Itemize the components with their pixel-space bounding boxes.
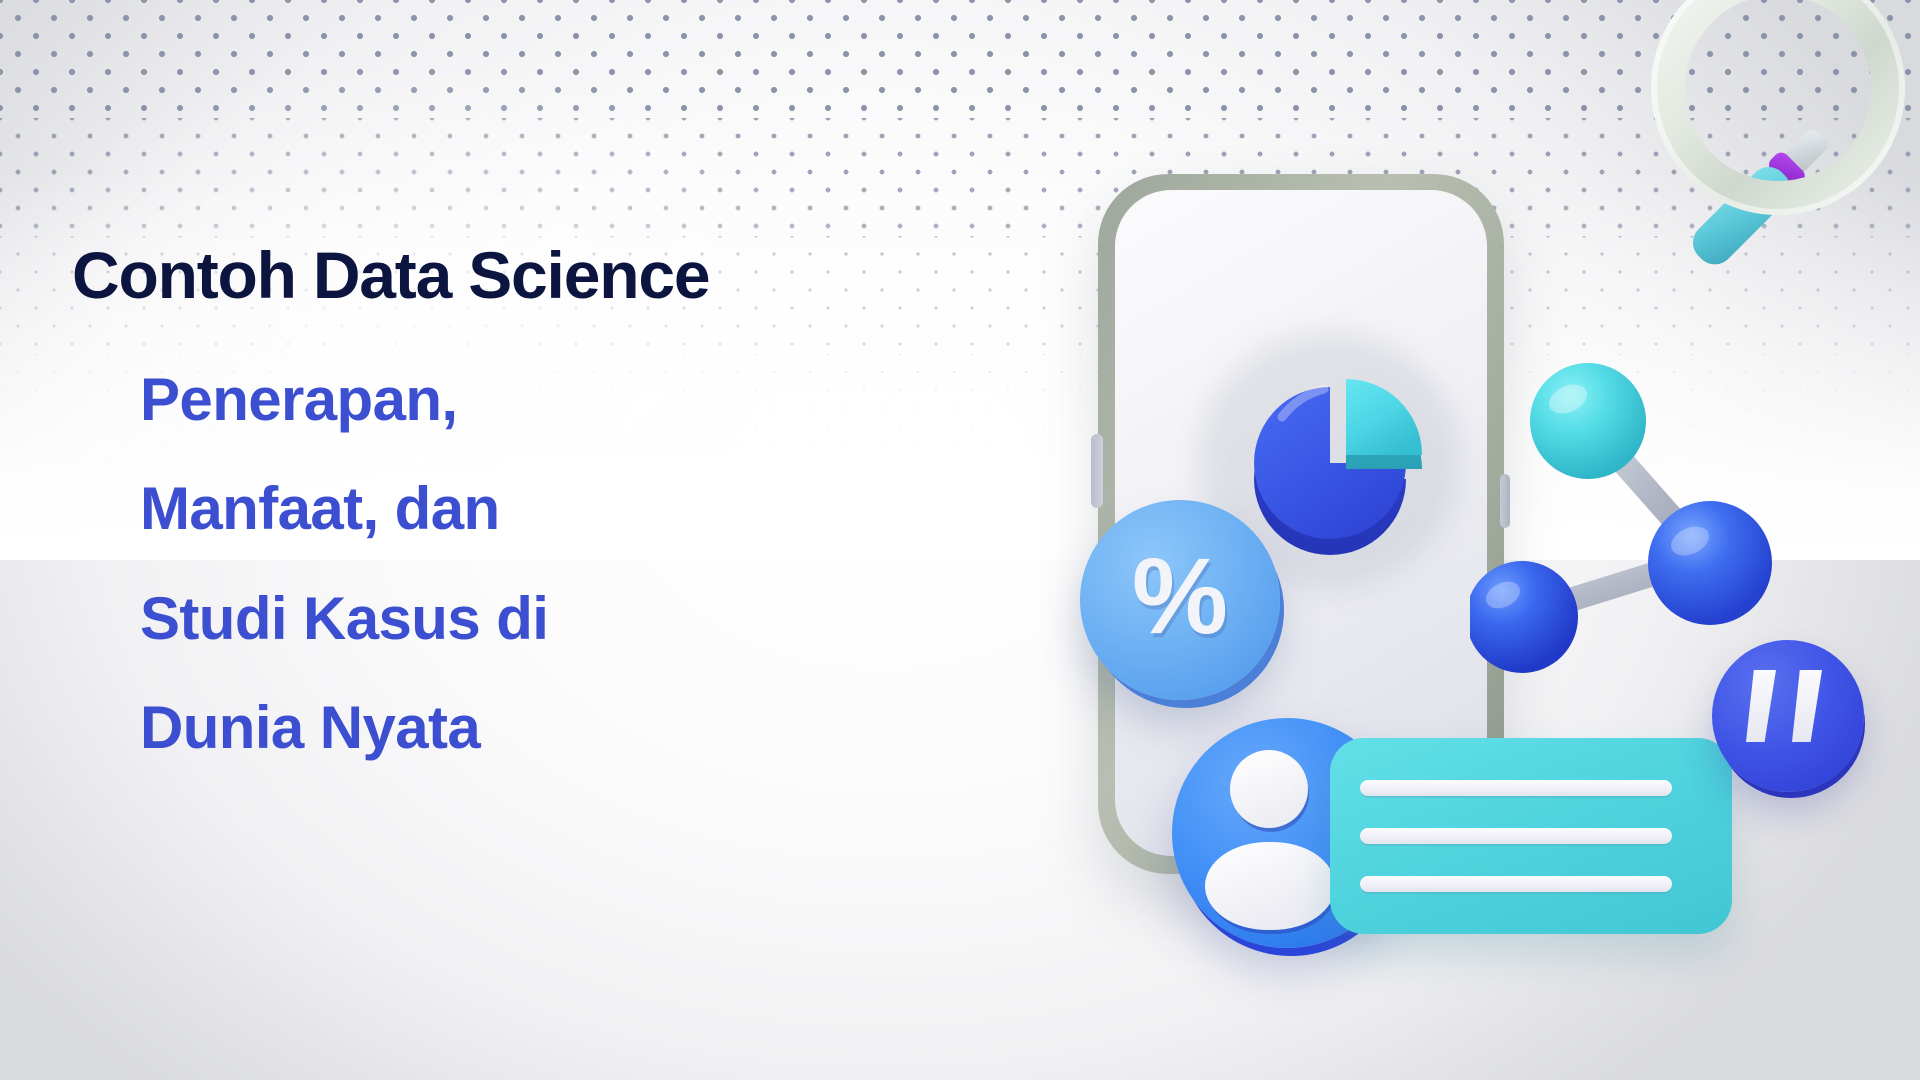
quote-mark-icon <box>1792 670 1822 742</box>
subtitle-line-3: Studi Kasus di <box>140 564 892 673</box>
card-text-bar <box>1360 876 1672 892</box>
quote-badge <box>1712 640 1864 792</box>
avatar-body-icon <box>1205 842 1335 930</box>
subtitle-line-1: Penerapan, <box>140 345 892 454</box>
phone-side-button-left <box>1091 434 1103 508</box>
magnifying-glass-icon <box>1648 0 1920 318</box>
banner-canvas: % <box>0 0 1920 1080</box>
card-text-bar <box>1360 828 1672 844</box>
percent-icon: % <box>1132 542 1228 650</box>
avatar-head-icon <box>1230 750 1308 828</box>
subtitle-line-2: Manfaat, dan <box>140 454 892 563</box>
page-title: Contoh Data Science <box>72 240 892 311</box>
banner-text-block: Contoh Data Science Penerapan, Manfaat, … <box>72 240 892 782</box>
quote-mark-icon <box>1746 670 1776 742</box>
card-text-bar <box>1360 780 1672 796</box>
data-list-card <box>1330 738 1732 934</box>
network-graph-icon <box>1470 355 1830 685</box>
percent-badge: % <box>1080 500 1280 700</box>
banner-subtitle: Penerapan, Manfaat, dan Studi Kasus di D… <box>140 345 892 782</box>
subtitle-line-4: Dunia Nyata <box>140 673 892 782</box>
